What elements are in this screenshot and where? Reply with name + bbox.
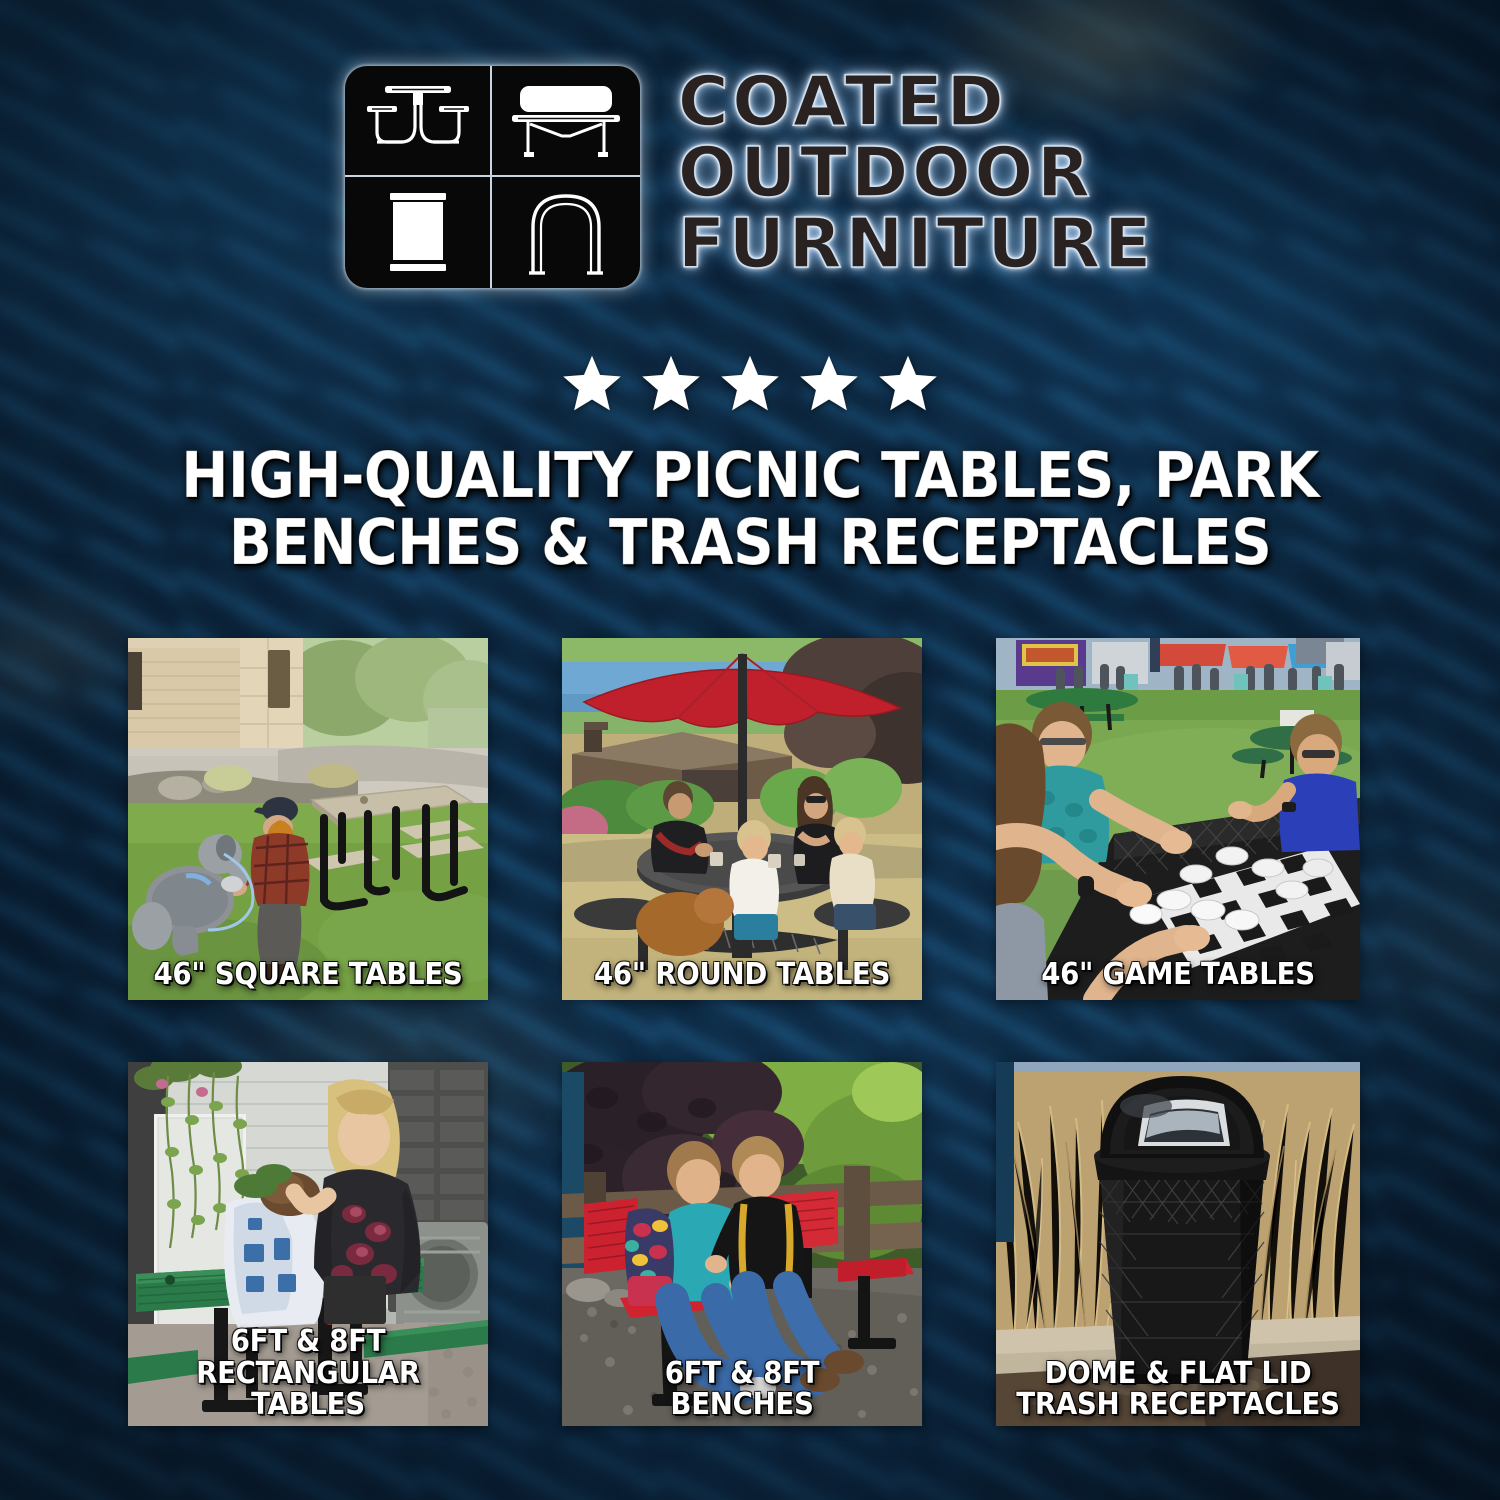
square-picnic-table-icon: [345, 66, 493, 177]
product-tile-benches[interactable]: 6FT & 8FT BENCHES: [562, 1062, 922, 1426]
star-icon-4: [796, 352, 862, 416]
flat-lid-trash-can-icon: [345, 177, 493, 288]
star-icon-2: [638, 352, 704, 416]
promo-banner: COATED OUTDOOR FURNITURE HIGH-QUALITY PI…: [0, 0, 1500, 1500]
brand-line-3: FURNITURE: [678, 210, 1155, 279]
star-icon-1: [559, 352, 625, 416]
product-photo-game-tables: [996, 638, 1360, 1000]
product-grid: 46" SQUARE TABLES: [128, 638, 1362, 1426]
product-caption: 46" ROUND TABLES: [576, 959, 907, 990]
logo-icon-grid: [345, 66, 640, 288]
star-icon-3: [717, 352, 783, 416]
product-photo-round-tables: [562, 638, 922, 1000]
product-caption: DOME & FLAT LID TRASH RECEPTACLES: [1011, 1358, 1346, 1420]
product-tile-round-tables[interactable]: 46" ROUND TABLES: [562, 638, 922, 1000]
star-icon-5: [875, 352, 941, 416]
brand-line-2: OUTDOOR: [678, 139, 1155, 208]
product-photo-square-tables: [128, 638, 488, 1000]
brand-logo: COATED OUTDOOR FURNITURE: [0, 66, 1500, 288]
product-caption: 46" GAME TABLES: [1011, 959, 1346, 990]
bench-icon: [492, 66, 640, 177]
headline-line-1: HIGH-QUALITY PICNIC TABLES, PARK: [181, 439, 1319, 512]
product-caption: 46" SQUARE TABLES: [142, 959, 473, 990]
brand-line-1: COATED: [678, 68, 1155, 137]
product-caption: 6FT & 8FT BENCHES: [576, 1358, 907, 1420]
product-tile-game-tables[interactable]: 46" GAME TABLES: [996, 638, 1360, 1000]
brand-wordmark: COATED OUTDOOR FURNITURE: [678, 66, 1155, 279]
headline-line-2: BENCHES & TRASH RECEPTACLES: [75, 509, 1425, 576]
dome-lid-trash-can-icon: [492, 177, 640, 288]
product-caption: 6FT & 8FT RECTANGULAR TABLES: [142, 1326, 473, 1420]
star-rating: [0, 352, 1500, 416]
product-tile-square-tables[interactable]: 46" SQUARE TABLES: [128, 638, 488, 1000]
product-tile-trash-receptacles[interactable]: DOME & FLAT LID TRASH RECEPTACLES: [996, 1062, 1360, 1426]
product-tile-rectangular-tables[interactable]: 6FT & 8FT RECTANGULAR TABLES: [128, 1062, 488, 1426]
headline: HIGH-QUALITY PICNIC TABLES, PARK BENCHES…: [75, 442, 1425, 577]
